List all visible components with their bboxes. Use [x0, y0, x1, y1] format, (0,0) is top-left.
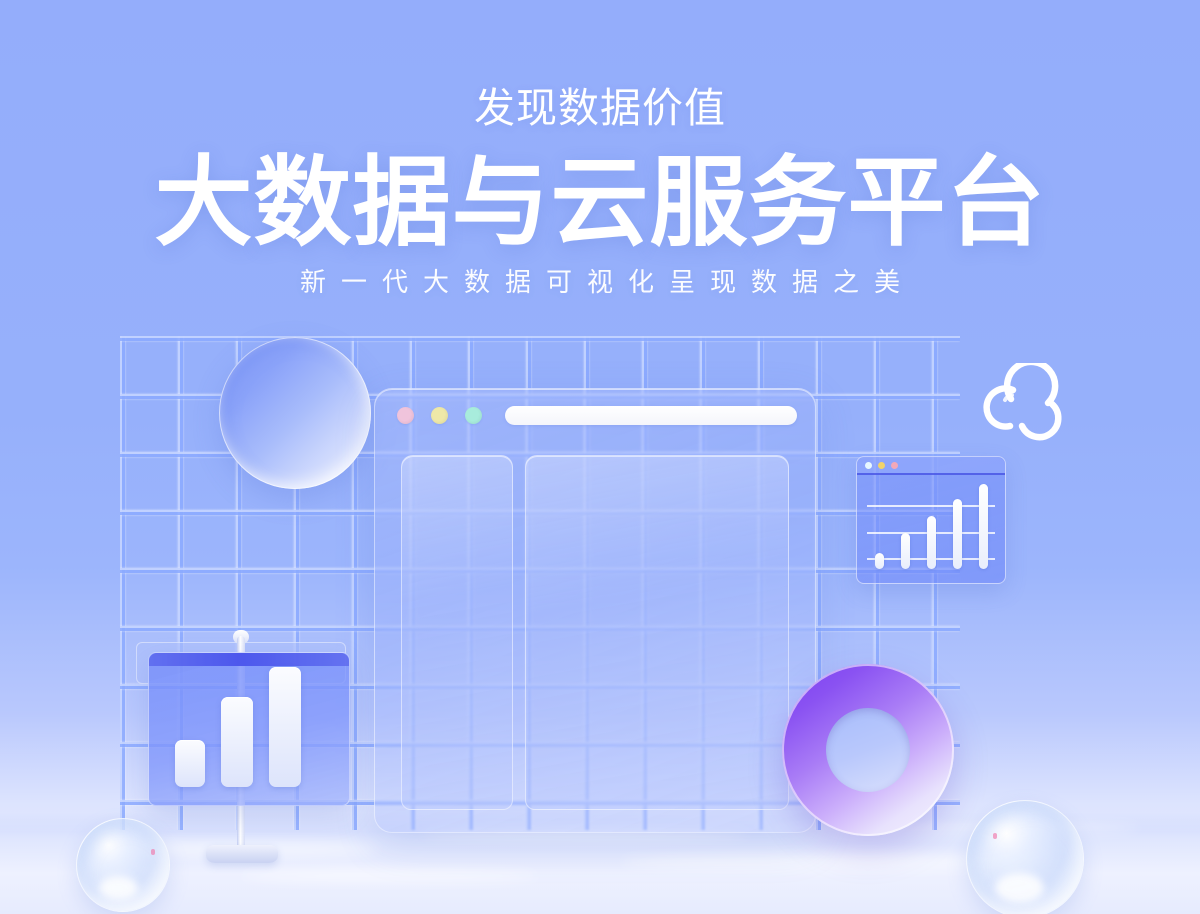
hero-text-block: 发现数据价值 大数据与云服务平台 新一代大数据可视化呈现数据之美: [0, 88, 1200, 295]
donut-ring: [782, 664, 954, 836]
page-title: 大数据与云服务平台: [0, 151, 1200, 255]
bar: [875, 553, 884, 569]
bar: [221, 697, 253, 787]
gridline: [867, 505, 995, 507]
hero-banner: 发现数据价值 大数据与云服务平台 新一代大数据可视化呈现数据之美: [0, 0, 1200, 914]
board-header: [149, 653, 349, 666]
bar: [927, 516, 936, 569]
donut-rim: [782, 664, 954, 836]
sidebar-panel[interactable]: [401, 455, 513, 810]
hero-eyebrow: 发现数据价值: [0, 88, 1200, 129]
close-icon[interactable]: [397, 407, 414, 424]
close-icon[interactable]: [865, 462, 872, 469]
bar: [901, 533, 910, 569]
stand-base: [206, 845, 278, 863]
hero-subtitle: 新一代大数据可视化呈现数据之美: [0, 269, 1200, 295]
browser-titlebar: [375, 389, 815, 441]
bar: [269, 667, 301, 787]
bar: [953, 499, 962, 569]
maximize-icon[interactable]: [891, 462, 898, 469]
widget-plot-area: [857, 475, 1005, 583]
address-bar[interactable]: [505, 406, 797, 425]
widget-titlebar: [857, 457, 1005, 475]
glass-sphere-left: [76, 818, 170, 912]
glass-sphere-right: [966, 800, 1084, 914]
minimize-icon[interactable]: [431, 407, 448, 424]
glass-disc: [219, 337, 371, 489]
minimize-icon[interactable]: [878, 462, 885, 469]
maximize-icon[interactable]: [465, 407, 482, 424]
content-panel[interactable]: [525, 455, 789, 810]
cloud-icon: [978, 363, 1074, 443]
standing-bar-chart-board[interactable]: [148, 652, 350, 806]
bar-chart-widget[interactable]: [856, 456, 1006, 584]
bar: [175, 740, 205, 787]
bar: [979, 484, 988, 569]
glass-browser-mockup[interactable]: [374, 388, 816, 833]
